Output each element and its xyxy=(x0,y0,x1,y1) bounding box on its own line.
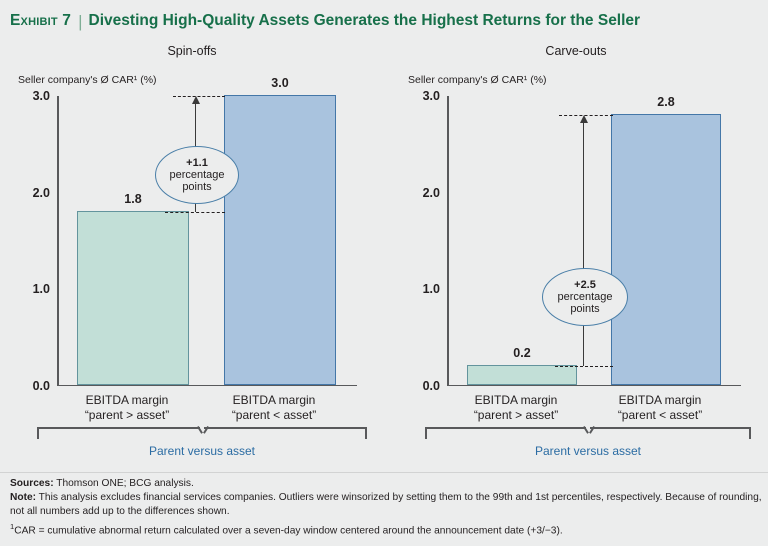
sources-line: Sources: Thomson ONE; BCG analysis. xyxy=(10,477,762,491)
y-tick-1: 1.0 xyxy=(423,282,440,296)
bar-value-carveouts-1: 0.2 xyxy=(467,346,577,360)
x-axis-line xyxy=(447,385,741,387)
callout-carveouts: +2.5 percentage points xyxy=(542,268,628,326)
leader-dash-lower-spinoffs xyxy=(165,212,225,213)
cat-line2: “parent < asset” xyxy=(194,408,354,423)
x-axis-line xyxy=(57,385,357,387)
brace-label-spinoffs: Parent versus asset xyxy=(37,444,367,458)
footnote-line: 1CAR = cumulative abnormal return calcul… xyxy=(10,520,762,539)
callout-unit-line2: points xyxy=(570,303,599,315)
brace-label-carveouts: Parent versus asset xyxy=(425,444,751,458)
chart-panel-spinoffs: Spin-offs Seller company's Ø CAR¹ (%) 3.… xyxy=(0,38,384,468)
y-axis-line xyxy=(447,96,449,386)
cat-line1: EBITDA margin xyxy=(580,393,740,408)
exhibit-number: Exhibit 7 xyxy=(10,12,71,30)
category-label-spinoffs-1: EBITDA margin “parent > asset” xyxy=(47,393,207,422)
footer-notes: Sources: Thomson ONE; BCG analysis. Note… xyxy=(10,477,762,538)
leader-dash-lower-carveouts xyxy=(555,366,613,367)
plot-area-carveouts: 3.0 2.0 1.0 0.0 0.2 2.8 +2.5 percentage … xyxy=(447,96,741,386)
cat-line1: EBITDA margin xyxy=(194,393,354,408)
y-axis-line xyxy=(57,96,59,386)
bar-value-spinoffs-2: 3.0 xyxy=(224,76,336,90)
delta-arrow-head-carveouts xyxy=(580,115,588,123)
category-label-carveouts-2: EBITDA margin “parent < asset” xyxy=(580,393,740,422)
delta-arrow-line-carveouts xyxy=(583,123,584,366)
brace-spinoffs xyxy=(37,427,367,443)
sources-text: Thomson ONE; BCG analysis. xyxy=(54,478,194,489)
exhibit-page: Exhibit 7 | Divesting High-Quality Asset… xyxy=(0,0,768,546)
y-tick-3: 3.0 xyxy=(33,89,50,103)
page-title: Divesting High-Quality Assets Generates … xyxy=(89,12,641,30)
y-axis-caption-spinoffs: Seller company's Ø CAR¹ (%) xyxy=(18,74,157,86)
y-tick-3: 3.0 xyxy=(423,89,440,103)
title-separator: | xyxy=(78,13,82,30)
y-tick-2: 2.0 xyxy=(33,186,50,200)
brace-carveouts xyxy=(425,427,751,443)
footer-divider xyxy=(0,472,768,473)
cat-line1: EBITDA margin xyxy=(436,393,596,408)
panel-title-spinoffs: Spin-offs xyxy=(0,44,384,58)
callout-value: +2.5 xyxy=(574,279,596,291)
cat-line2: “parent < asset” xyxy=(580,408,740,423)
callout-spinoffs: +1.1 percentage points xyxy=(155,146,239,204)
bar-carveouts-parent-gt-asset[interactable] xyxy=(467,365,577,385)
y-axis-caption-carveouts: Seller company's Ø CAR¹ (%) xyxy=(408,74,547,86)
callout-value: +1.1 xyxy=(186,157,208,169)
panel-title-carveouts: Carve-outs xyxy=(384,44,768,58)
bar-value-carveouts-2: 2.8 xyxy=(611,95,721,109)
sources-label: Sources: xyxy=(10,478,54,489)
callout-unit-line1: percentage xyxy=(169,169,224,181)
delta-arrow-head-spinoffs xyxy=(192,96,200,104)
exhibit-header: Exhibit 7 | Divesting High-Quality Asset… xyxy=(10,7,760,35)
y-tick-2: 2.0 xyxy=(423,186,440,200)
category-label-carveouts-1: EBITDA margin “parent > asset” xyxy=(436,393,596,422)
y-tick-0: 0.0 xyxy=(33,379,50,393)
bar-carveouts-parent-lt-asset[interactable] xyxy=(611,114,721,385)
y-tick-0: 0.0 xyxy=(423,379,440,393)
callout-unit-line2: points xyxy=(182,181,211,193)
callout-unit-line1: percentage xyxy=(557,291,612,303)
chart-panel-carveouts: Carve-outs Seller company's Ø CAR¹ (%) 3… xyxy=(384,38,768,468)
category-label-spinoffs-2: EBITDA margin “parent < asset” xyxy=(194,393,354,422)
bar-spinoffs-parent-lt-asset[interactable] xyxy=(224,95,336,385)
note-label: Note: xyxy=(10,492,36,503)
note-line: Note: This analysis excludes financial s… xyxy=(10,491,762,519)
plot-area-spinoffs: 3.0 2.0 1.0 0.0 1.8 3.0 +1.1 percentage … xyxy=(57,96,357,386)
footnote-text: CAR = cumulative abnormal return calcula… xyxy=(14,525,562,536)
cat-line2: “parent > asset” xyxy=(47,408,207,423)
note-text: This analysis excludes financial service… xyxy=(10,492,762,517)
bar-spinoffs-parent-gt-asset[interactable] xyxy=(77,211,189,385)
cat-line1: EBITDA margin xyxy=(47,393,207,408)
y-tick-1: 1.0 xyxy=(33,282,50,296)
cat-line2: “parent > asset” xyxy=(436,408,596,423)
